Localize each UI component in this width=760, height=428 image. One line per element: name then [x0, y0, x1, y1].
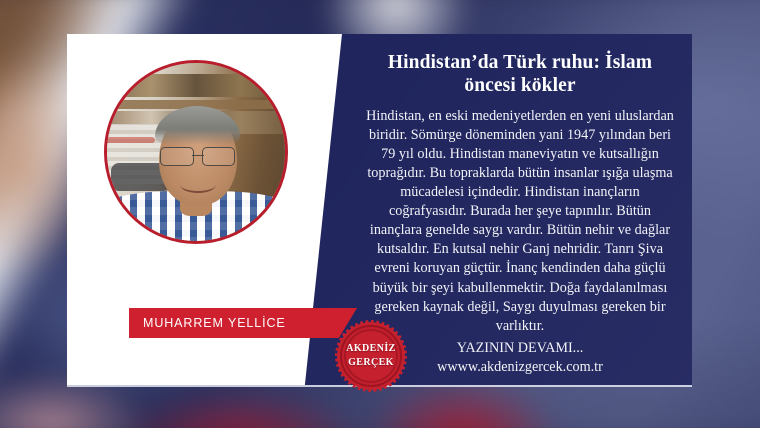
article-text-column: Hindistan’da Türk ruhu: İslam öncesi kök…: [364, 52, 676, 377]
portrait-photo-image: [107, 63, 285, 241]
article-body-text: Hindistan, en eski medeniyetlerden en ye…: [364, 107, 676, 335]
website-url-label[interactable]: wwww.akdenizgercek.com.tr: [364, 358, 676, 377]
article-card[interactable]: MUHARREM YELLİCE AKDENİZ GERÇEK Hindista…: [67, 34, 692, 385]
author-portrait: [104, 60, 288, 244]
article-headline: Hindistan’da Türk ruhu: İslam öncesi kök…: [364, 52, 676, 97]
bookshelf-row-1: [107, 74, 285, 97]
smile-shape: [180, 177, 216, 193]
author-name-ribbon: MUHARREM YELLİCE: [129, 308, 357, 338]
author-name-label: MUHARREM YELLİCE: [129, 316, 286, 330]
screenshot-root: MUHARREM YELLİCE AKDENİZ GERÇEK Hindista…: [0, 0, 760, 428]
glasses-icon: [160, 147, 235, 165]
read-more-label[interactable]: YAZININ DEVAMI...: [364, 339, 676, 358]
